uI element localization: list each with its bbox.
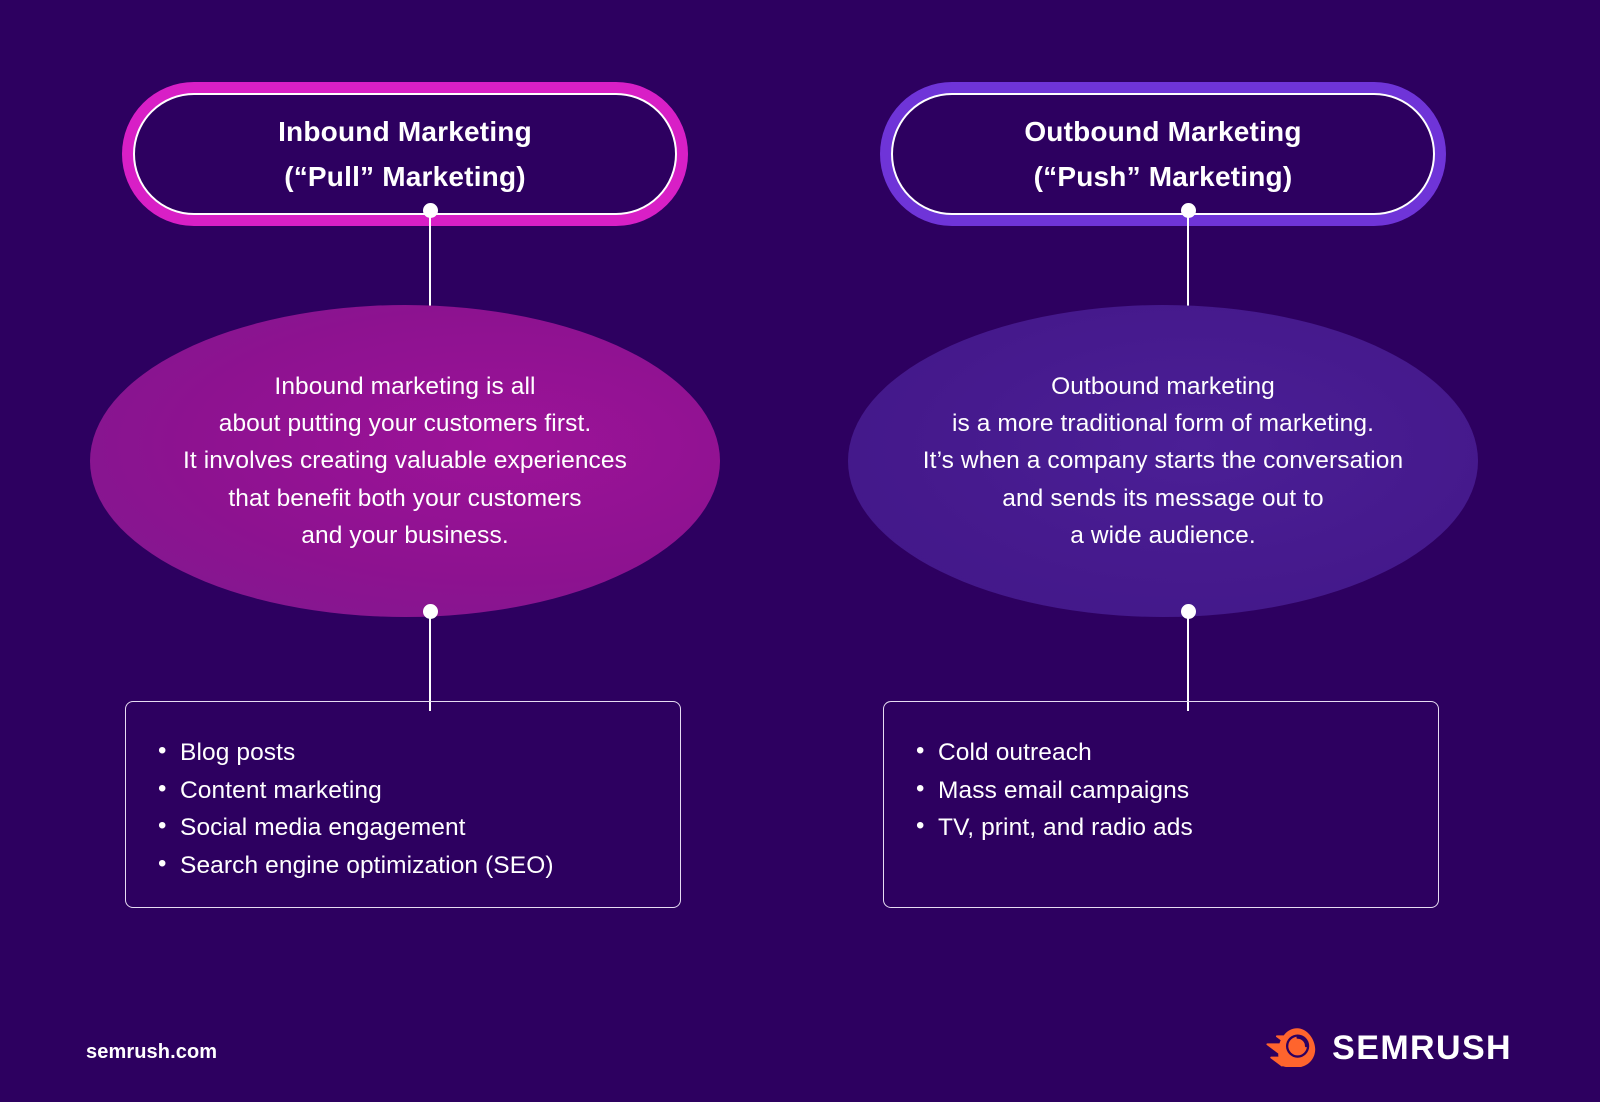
connector-ellipse-to-list-outbound [1187, 611, 1189, 711]
list-item: Content marketing [158, 772, 680, 810]
header-pill-outbound: Outbound Marketing (“Push” Marketing) [880, 82, 1446, 226]
semrush-brand-logo: SEMRUSH [1264, 1025, 1512, 1072]
column-outbound: Outbound Marketing (“Push” Marketing) Ou… [838, 0, 1538, 1000]
infographic-canvas: Inbound Marketing (“Pull” Marketing) Inb… [0, 0, 1600, 1102]
tactics-list-inbound: Blog posts Content marketing Social medi… [158, 734, 680, 885]
connector-dot-icon [423, 604, 438, 619]
list-item: Blog posts [158, 734, 680, 772]
header-pill-inner-inbound: Inbound Marketing (“Pull” Marketing) [133, 93, 677, 215]
list-item: Social media engagement [158, 809, 680, 847]
list-item: Cold outreach [916, 734, 1438, 772]
header-pill-inner-outbound: Outbound Marketing (“Push” Marketing) [891, 93, 1435, 215]
list-item: TV, print, and radio ads [916, 809, 1438, 847]
connector-ellipse-to-list-inbound [429, 611, 431, 711]
connector-dot-icon [1181, 604, 1196, 619]
semrush-wordmark: SEMRUSH [1332, 1029, 1512, 1068]
description-text-outbound: Outbound marketing is a more traditional… [923, 368, 1403, 554]
connector-dot-icon [423, 203, 438, 218]
tactics-box-inbound: Blog posts Content marketing Social medi… [125, 701, 681, 908]
description-ellipse-inbound: Inbound marketing is all about putting y… [90, 305, 720, 617]
header-pill-inbound: Inbound Marketing (“Pull” Marketing) [122, 82, 688, 226]
tactics-box-outbound: Cold outreach Mass email campaigns TV, p… [883, 701, 1439, 908]
footer-site-url: semrush.com [86, 1041, 217, 1064]
semrush-comet-icon [1264, 1025, 1318, 1072]
connector-header-to-ellipse-outbound [1187, 210, 1189, 315]
column-inbound: Inbound Marketing (“Pull” Marketing) Inb… [80, 0, 780, 1000]
list-item: Mass email campaigns [916, 772, 1438, 810]
header-title-line2-inbound: (“Pull” Marketing) [284, 154, 526, 199]
list-item: Search engine optimization (SEO) [158, 847, 680, 885]
header-title-line2-outbound: (“Push” Marketing) [1034, 154, 1293, 199]
connector-header-to-ellipse-inbound [429, 210, 431, 315]
connector-dot-icon [1181, 203, 1196, 218]
header-title-line1-inbound: Inbound Marketing [278, 109, 532, 154]
description-ellipse-outbound: Outbound marketing is a more traditional… [848, 305, 1478, 617]
tactics-list-outbound: Cold outreach Mass email campaigns TV, p… [916, 734, 1438, 847]
header-title-line1-outbound: Outbound Marketing [1024, 109, 1301, 154]
description-text-inbound: Inbound marketing is all about putting y… [183, 368, 627, 554]
